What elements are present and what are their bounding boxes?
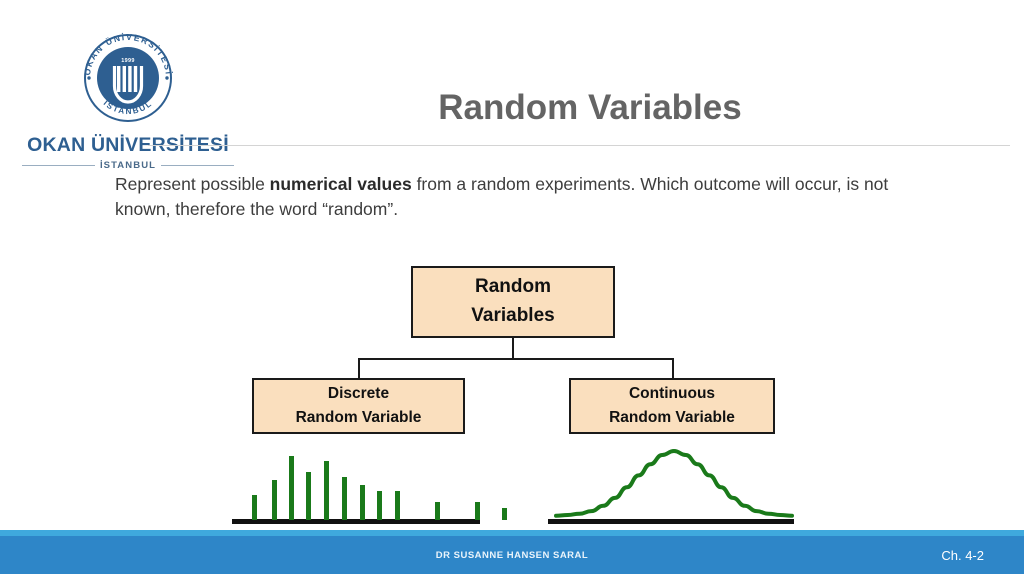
footer-bar: DR SUSANNE HANSEN SARAL Ch. 4-2 — [0, 536, 1024, 574]
svg-text:1999: 1999 — [121, 58, 134, 64]
node-random-variables: Random Variables — [411, 266, 615, 338]
node-continuous-random-variable: Continuous Random Variable — [569, 378, 775, 434]
logo-subtitle: İSTANBUL — [100, 160, 156, 171]
discrete-axis-line — [232, 519, 480, 524]
okan-university-seal-icon: OKAN ÜNİVERSİTESİ İSTANBUL 1999 — [76, 26, 180, 130]
continuous-distribution-chart — [548, 444, 800, 524]
node-right-line2: Random Variable — [609, 406, 735, 430]
discrete-bar — [502, 508, 507, 520]
node-root-line2: Variables — [471, 302, 554, 331]
body-text-emphasis: numerical values — [270, 174, 412, 194]
logo-rule-left — [22, 165, 95, 166]
discrete-bar — [475, 502, 480, 521]
discrete-bar — [342, 477, 347, 520]
slide-root: OKAN ÜNİVERSİTESİ İSTANBUL 1999 OKAN ÜNİ… — [0, 0, 1024, 574]
discrete-bar — [377, 491, 382, 520]
footer-chapter: Ch. 4-2 — [941, 536, 984, 574]
discrete-bar — [306, 472, 311, 520]
continuous-axis-line — [548, 519, 794, 524]
discrete-bar — [252, 495, 257, 520]
body-paragraph: Represent possible numerical values from… — [115, 172, 915, 222]
discrete-distribution-chart — [232, 444, 484, 524]
page-title: Random Variables — [240, 88, 940, 128]
node-right-line1: Continuous — [629, 382, 715, 406]
discrete-bar — [324, 461, 329, 520]
discrete-bar — [435, 502, 440, 521]
connector-root-vertical — [512, 338, 514, 360]
logo-rule-right — [161, 165, 234, 166]
bell-curve-path — [556, 451, 792, 516]
connector-right-vertical — [672, 358, 674, 378]
body-text-lead: Represent possible — [115, 174, 270, 194]
node-left-line2: Random Variable — [296, 406, 422, 430]
logo-subtitle-row: İSTANBUL — [22, 160, 234, 171]
node-left-line1: Discrete — [328, 382, 389, 406]
discrete-bar — [360, 485, 365, 520]
connector-horizontal — [358, 358, 674, 360]
title-divider — [148, 145, 1010, 146]
discrete-bar — [395, 491, 400, 520]
university-logo: OKAN ÜNİVERSİTESİ İSTANBUL 1999 OKAN ÜNİ… — [22, 26, 232, 146]
node-root-line1: Random — [475, 273, 551, 302]
bell-curve-icon — [548, 445, 800, 521]
footer-author: DR SUSANNE HANSEN SARAL — [0, 536, 1024, 574]
discrete-bar — [272, 480, 277, 520]
connector-left-vertical — [358, 358, 360, 378]
node-discrete-random-variable: Discrete Random Variable — [252, 378, 465, 434]
discrete-bar — [289, 456, 294, 520]
